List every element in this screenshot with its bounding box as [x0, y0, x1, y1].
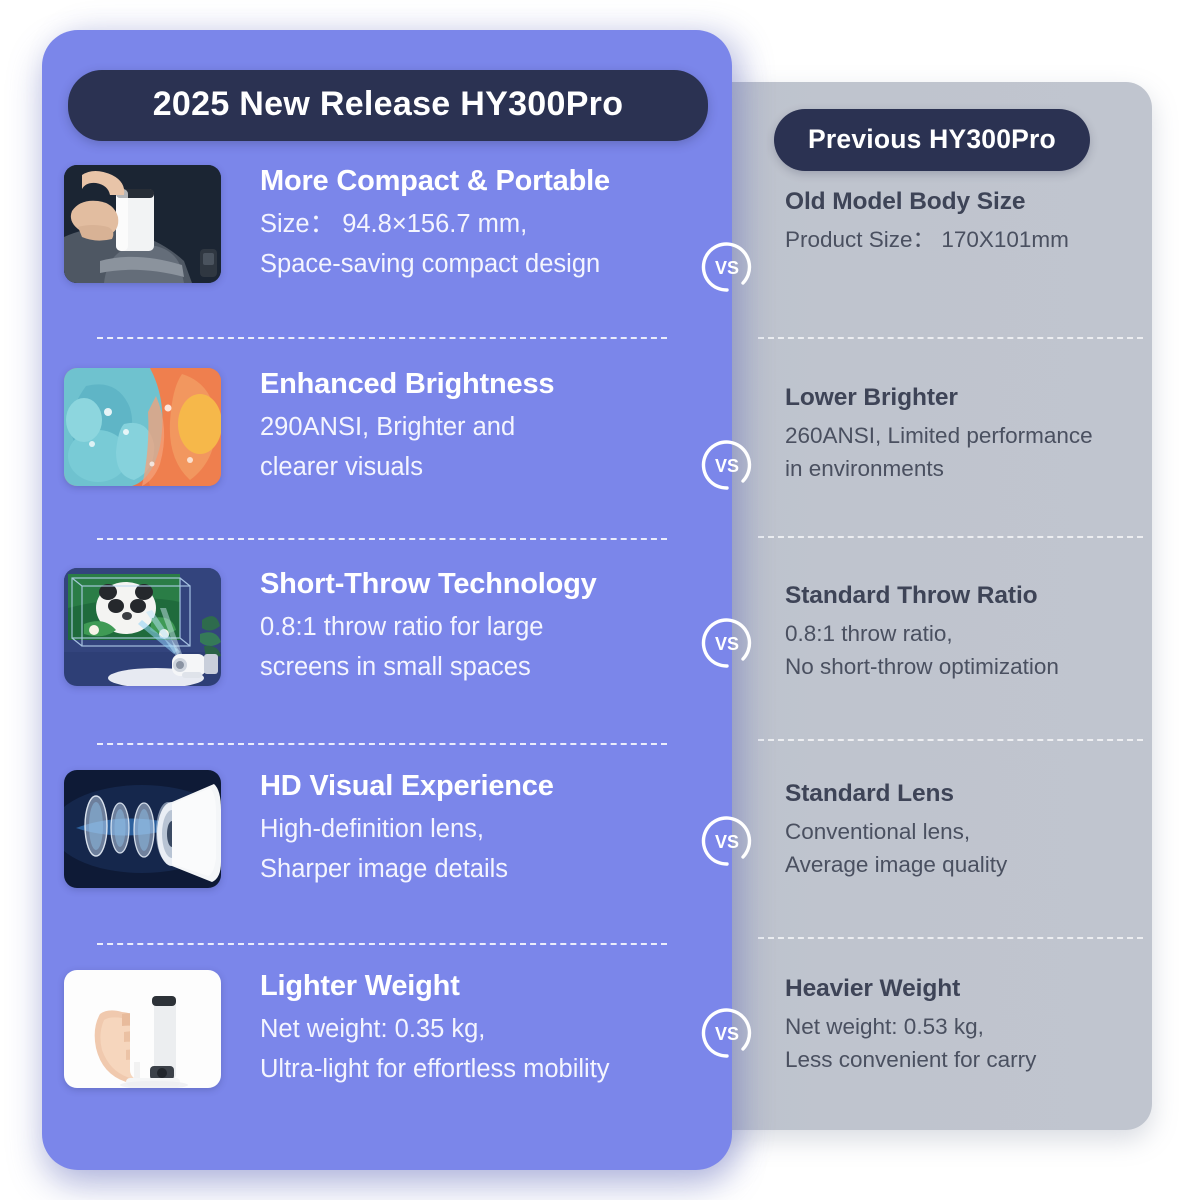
previous-model-badge: Previous HY300Pro [774, 109, 1090, 171]
new-feature-text: Short-Throw Technology 0.8:1 throw ratio… [260, 568, 730, 687]
previous-feature-row-1: Old Model Body Size Product Size： 170X10… [785, 188, 1135, 256]
vs-badge-icon-1: VS [699, 239, 755, 295]
previous-feature-title: Lower Brighter [785, 384, 1135, 412]
new-feature-line: 290ANSI, Brighter and [260, 407, 730, 447]
projector-in-backpack-photo [64, 165, 221, 283]
colorful-glossy-petals-photo [64, 368, 221, 486]
previous-feature-row-2: Lower Brighter 260ANSI, Limited performa… [785, 384, 1135, 485]
previous-feature-line: 0.8:1 throw ratio, [785, 617, 1135, 650]
previous-feature-title: Standard Throw Ratio [785, 582, 1135, 610]
previous-row-divider [758, 536, 1143, 538]
previous-feature-line: Product Size： 170X101mm [785, 223, 1135, 256]
svg-text:VS: VS [715, 456, 739, 476]
new-feature-line: High-definition lens, [260, 809, 730, 849]
new-feature-text: More Compact & Portable Size： 94.8×156.7… [260, 165, 730, 284]
new-feature-line: Ultra-light for effortless mobility [260, 1049, 730, 1089]
new-feature-line: Net weight: 0.35 kg, [260, 1009, 730, 1049]
previous-feature-title: Heavier Weight [785, 975, 1135, 1003]
previous-feature-line: Average image quality [785, 848, 1135, 881]
new-feature-line: Size： 94.8×156.7 mm, [260, 204, 730, 244]
previous-feature-line: Less convenient for carry [785, 1043, 1135, 1076]
new-feature-title: HD Visual Experience [260, 770, 730, 803]
previous-feature-row-3: Standard Throw Ratio 0.8:1 throw ratio, … [785, 582, 1135, 683]
new-feature-line: 0.8:1 throw ratio for large [260, 607, 730, 647]
new-model-badge: 2025 New Release HY300Pro [68, 70, 708, 141]
projector-casting-panda-image-photo [64, 568, 221, 686]
new-feature-line: clearer visuals [260, 447, 730, 487]
previous-row-divider [758, 337, 1143, 339]
previous-feature-row-5: Heavier Weight Net weight: 0.53 kg, Less… [785, 975, 1135, 1076]
new-feature-title: More Compact & Portable [260, 165, 730, 198]
new-row-divider [97, 538, 667, 540]
previous-row-divider [758, 739, 1143, 741]
previous-feature-line: Net weight: 0.53 kg, [785, 1010, 1135, 1043]
previous-row-divider [758, 937, 1143, 939]
vs-badge-icon-3: VS [699, 615, 755, 671]
previous-feature-title: Old Model Body Size [785, 188, 1135, 216]
exploded-lens-assembly-photo [64, 770, 221, 888]
new-feature-line: screens in small spaces [260, 647, 730, 687]
vs-badge-icon-2: VS [699, 437, 755, 493]
new-row-divider [97, 337, 667, 339]
previous-feature-line: 260ANSI, Limited performance [785, 419, 1135, 452]
new-model-panel: 2025 New Release HY300Pro [42, 30, 732, 1170]
comparison-infographic: Previous HY300Pro Old Model Body Size Pr… [0, 0, 1200, 1200]
svg-text:VS: VS [715, 832, 739, 852]
new-feature-line: Sharper image details [260, 849, 730, 889]
new-row-divider [97, 743, 667, 745]
svg-text:VS: VS [715, 258, 739, 278]
previous-feature-line: in environments [785, 452, 1135, 485]
new-feature-line: Space-saving compact design [260, 244, 730, 284]
vs-badge-icon-4: VS [699, 813, 755, 869]
svg-text:VS: VS [715, 1024, 739, 1044]
vs-badge-icon-5: VS [699, 1005, 755, 1061]
hand-holding-projector-photo [64, 970, 221, 1088]
svg-text:VS: VS [715, 634, 739, 654]
new-feature-title: Lighter Weight [260, 970, 730, 1003]
new-feature-title: Enhanced Brightness [260, 368, 730, 401]
previous-feature-line: Conventional lens, [785, 815, 1135, 848]
previous-feature-line: No short-throw optimization [785, 650, 1135, 683]
new-feature-text: Enhanced Brightness 290ANSI, Brighter an… [260, 368, 730, 487]
previous-feature-title: Standard Lens [785, 780, 1135, 808]
previous-feature-row-4: Standard Lens Conventional lens, Average… [785, 780, 1135, 881]
new-row-divider [97, 943, 667, 945]
new-feature-text: HD Visual Experience High-definition len… [260, 770, 730, 889]
new-feature-text: Lighter Weight Net weight: 0.35 kg, Ultr… [260, 970, 730, 1089]
new-feature-title: Short-Throw Technology [260, 568, 730, 601]
